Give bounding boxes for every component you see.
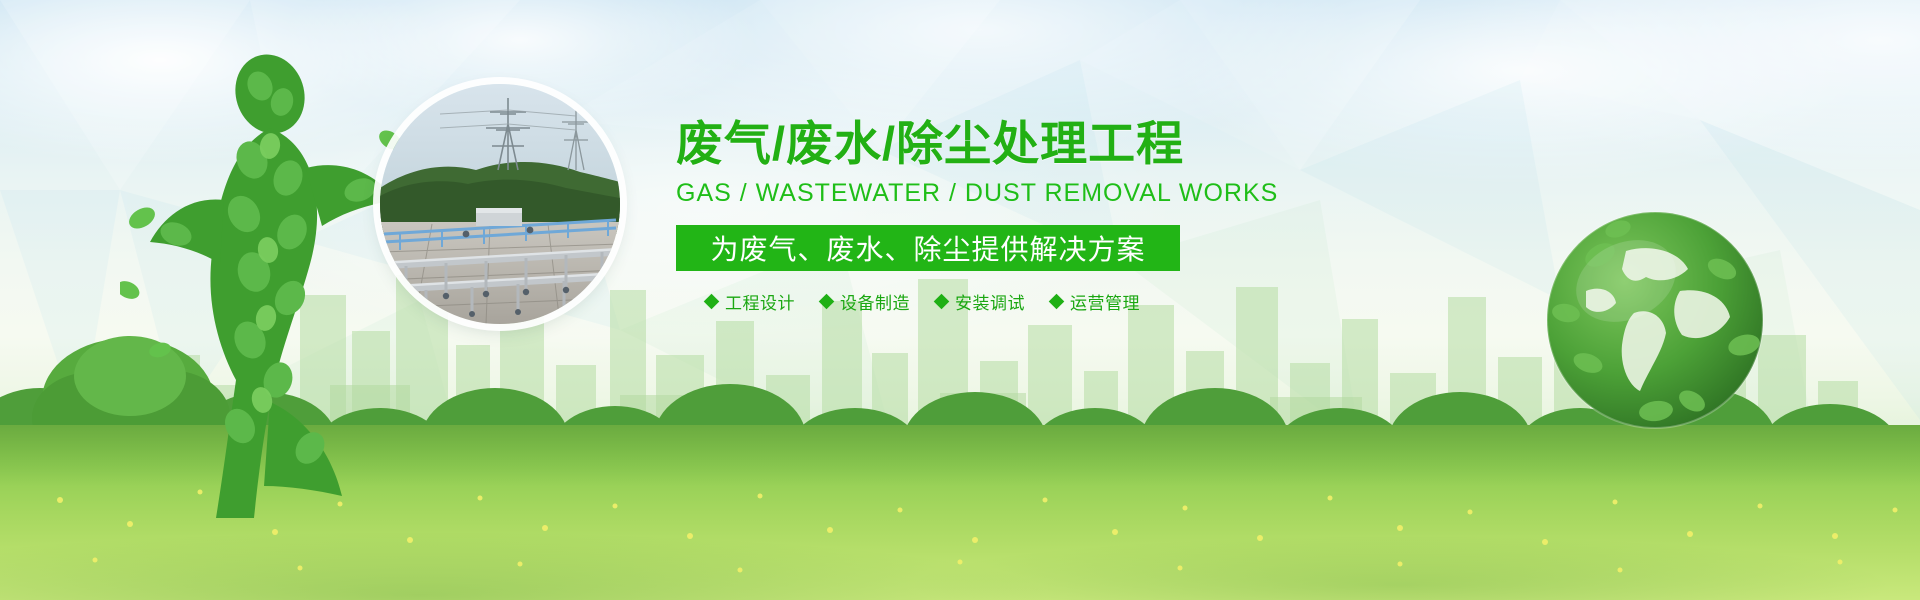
page-title: 废气/废水/除尘处理工程 xyxy=(676,120,1236,167)
tagline-text: 为废气、废水、除尘提供解决方案 xyxy=(710,228,1145,268)
page-subtitle-english: GAS / WASTEWATER / DUST REMOVAL WORKS xyxy=(676,179,1236,208)
tagline-ribbon: 为废气、废水、除尘提供解决方案 xyxy=(676,225,1180,271)
service-bullet-list: 工程设计 设备制造 安装调试 运营管理 xyxy=(676,289,1236,314)
leaf-man-running-figure xyxy=(120,50,420,520)
service-label: 工程设计 xyxy=(725,289,795,314)
wastewater-plant-photo xyxy=(380,84,620,324)
service-item-installation-commissioning[interactable]: 安装调试 xyxy=(936,289,1025,314)
plant-photo-illustration xyxy=(380,84,620,324)
service-label: 设备制造 xyxy=(840,289,910,314)
diamond-icon xyxy=(934,294,950,310)
service-label: 安装调试 xyxy=(955,289,1025,314)
banner-copy-block: 废气/废水/除尘处理工程 GAS / WASTEWATER / DUST REM… xyxy=(676,120,1236,314)
leafy-earth-globe xyxy=(1530,195,1780,445)
diamond-icon xyxy=(819,294,835,310)
diamond-icon xyxy=(704,294,720,310)
service-item-engineering-design[interactable]: 工程设计 xyxy=(706,289,795,314)
service-label: 运营管理 xyxy=(1070,289,1140,314)
service-item-operation-management[interactable]: 运营管理 xyxy=(1051,289,1140,314)
diamond-icon xyxy=(1049,294,1065,310)
service-item-equipment-manufacturing[interactable]: 设备制造 xyxy=(821,289,910,314)
eco-engineering-banner: 废气/废水/除尘处理工程 GAS / WASTEWATER / DUST REM… xyxy=(0,0,1920,600)
